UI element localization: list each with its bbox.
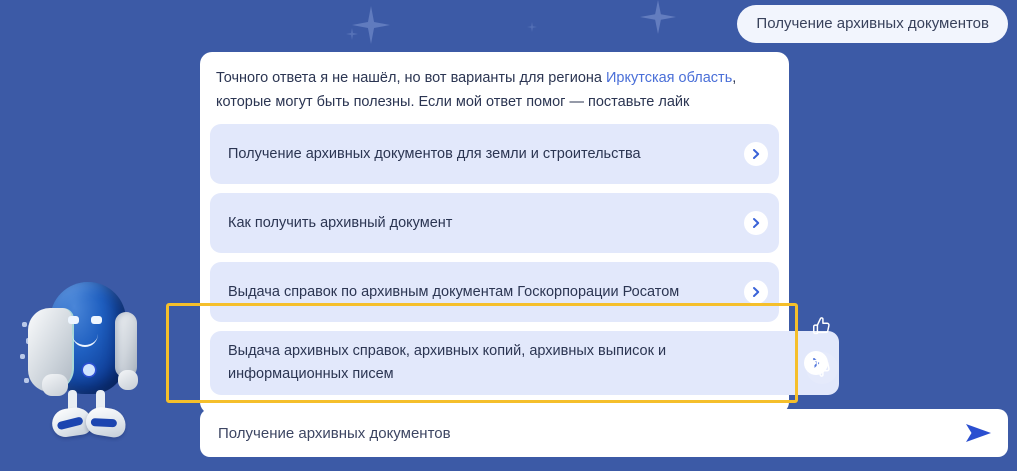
suggestion-label: Выдача архивных справок, архивных копий,… bbox=[228, 340, 787, 386]
robot-eye-left bbox=[68, 316, 79, 324]
robot-shoe-right bbox=[84, 405, 128, 439]
bot-text-before-link: Точного ответа я не нашёл, но вот вариан… bbox=[216, 70, 606, 86]
suggestion-option-4[interactable]: Выдача архивных справок, архивных копий,… bbox=[210, 331, 839, 395]
suggestion-option-2[interactable]: Как получить архивный документ bbox=[210, 193, 779, 253]
send-button[interactable] bbox=[950, 409, 1008, 457]
chevron-right-icon[interactable] bbox=[744, 142, 768, 166]
bot-message-bubble: Точного ответа я не нашёл, но вот вариан… bbox=[200, 52, 789, 414]
sparkle-icon bbox=[352, 6, 390, 44]
user-message-bubble: Получение архивных документов bbox=[737, 5, 1008, 43]
sparkle-icon bbox=[527, 22, 537, 32]
thumbs-down-icon[interactable] bbox=[806, 352, 838, 384]
bot-message-text: Точного ответа я не нашёл, но вот вариан… bbox=[200, 66, 789, 118]
sparkle-icon bbox=[346, 28, 358, 40]
robot-hand-left bbox=[42, 374, 68, 396]
message-input[interactable]: Получение архивных документов bbox=[200, 425, 950, 442]
robot-arm-right bbox=[115, 312, 137, 378]
thumbs-up-icon[interactable] bbox=[806, 310, 838, 342]
suggestion-option-3[interactable]: Выдача справок по архивным документам Го… bbox=[210, 262, 779, 322]
robot-eye-right bbox=[91, 316, 102, 324]
suggestion-label: Как получить архивный документ bbox=[228, 212, 452, 235]
robot-hand-right bbox=[118, 370, 138, 390]
chevron-right-icon[interactable] bbox=[744, 280, 768, 304]
suggestion-option-1[interactable]: Получение архивных документов для земли … bbox=[210, 124, 779, 184]
user-message-text: Получение архивных документов bbox=[756, 15, 989, 32]
robot-assistant-mascot bbox=[20, 278, 148, 466]
sparkle-icon bbox=[640, 0, 676, 34]
suggestion-label: Выдача справок по архивным документам Го… bbox=[228, 281, 679, 304]
suggestion-label: Получение архивных документов для земли … bbox=[228, 143, 641, 166]
message-composer: Получение архивных документов bbox=[200, 409, 1008, 457]
chat-screen: Получение архивных документов Точного от… bbox=[0, 0, 1017, 471]
robot-chest-badge bbox=[83, 364, 95, 376]
chevron-right-icon[interactable] bbox=[744, 211, 768, 235]
suggestion-list: Получение архивных документов для земли … bbox=[200, 118, 789, 406]
region-link[interactable]: Иркутская область bbox=[606, 70, 732, 86]
